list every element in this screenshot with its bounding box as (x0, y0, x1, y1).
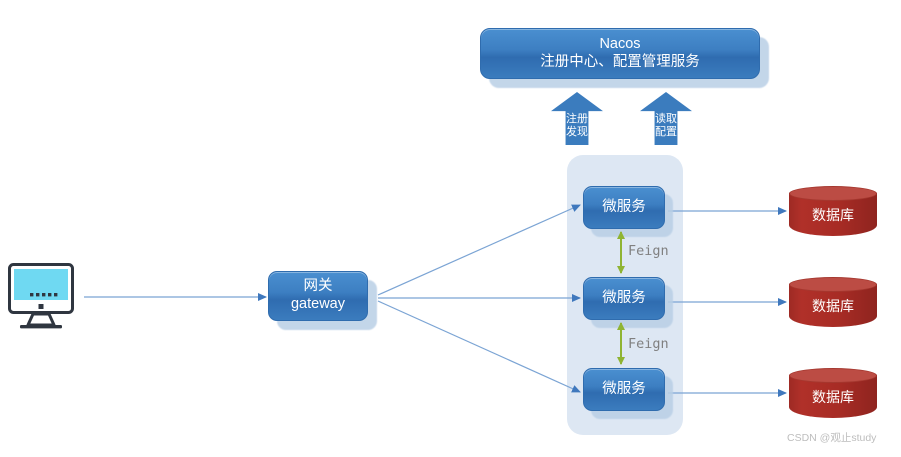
feign-label-2: Feign (628, 336, 669, 352)
feign-label-1: Feign (628, 243, 669, 259)
architecture-diagram: Nacos 注册中心、配置管理服务 注册 发现 读取 配置 (0, 0, 901, 457)
watermark: CSDN @观止study (787, 430, 876, 445)
feign-arrows (0, 0, 901, 457)
